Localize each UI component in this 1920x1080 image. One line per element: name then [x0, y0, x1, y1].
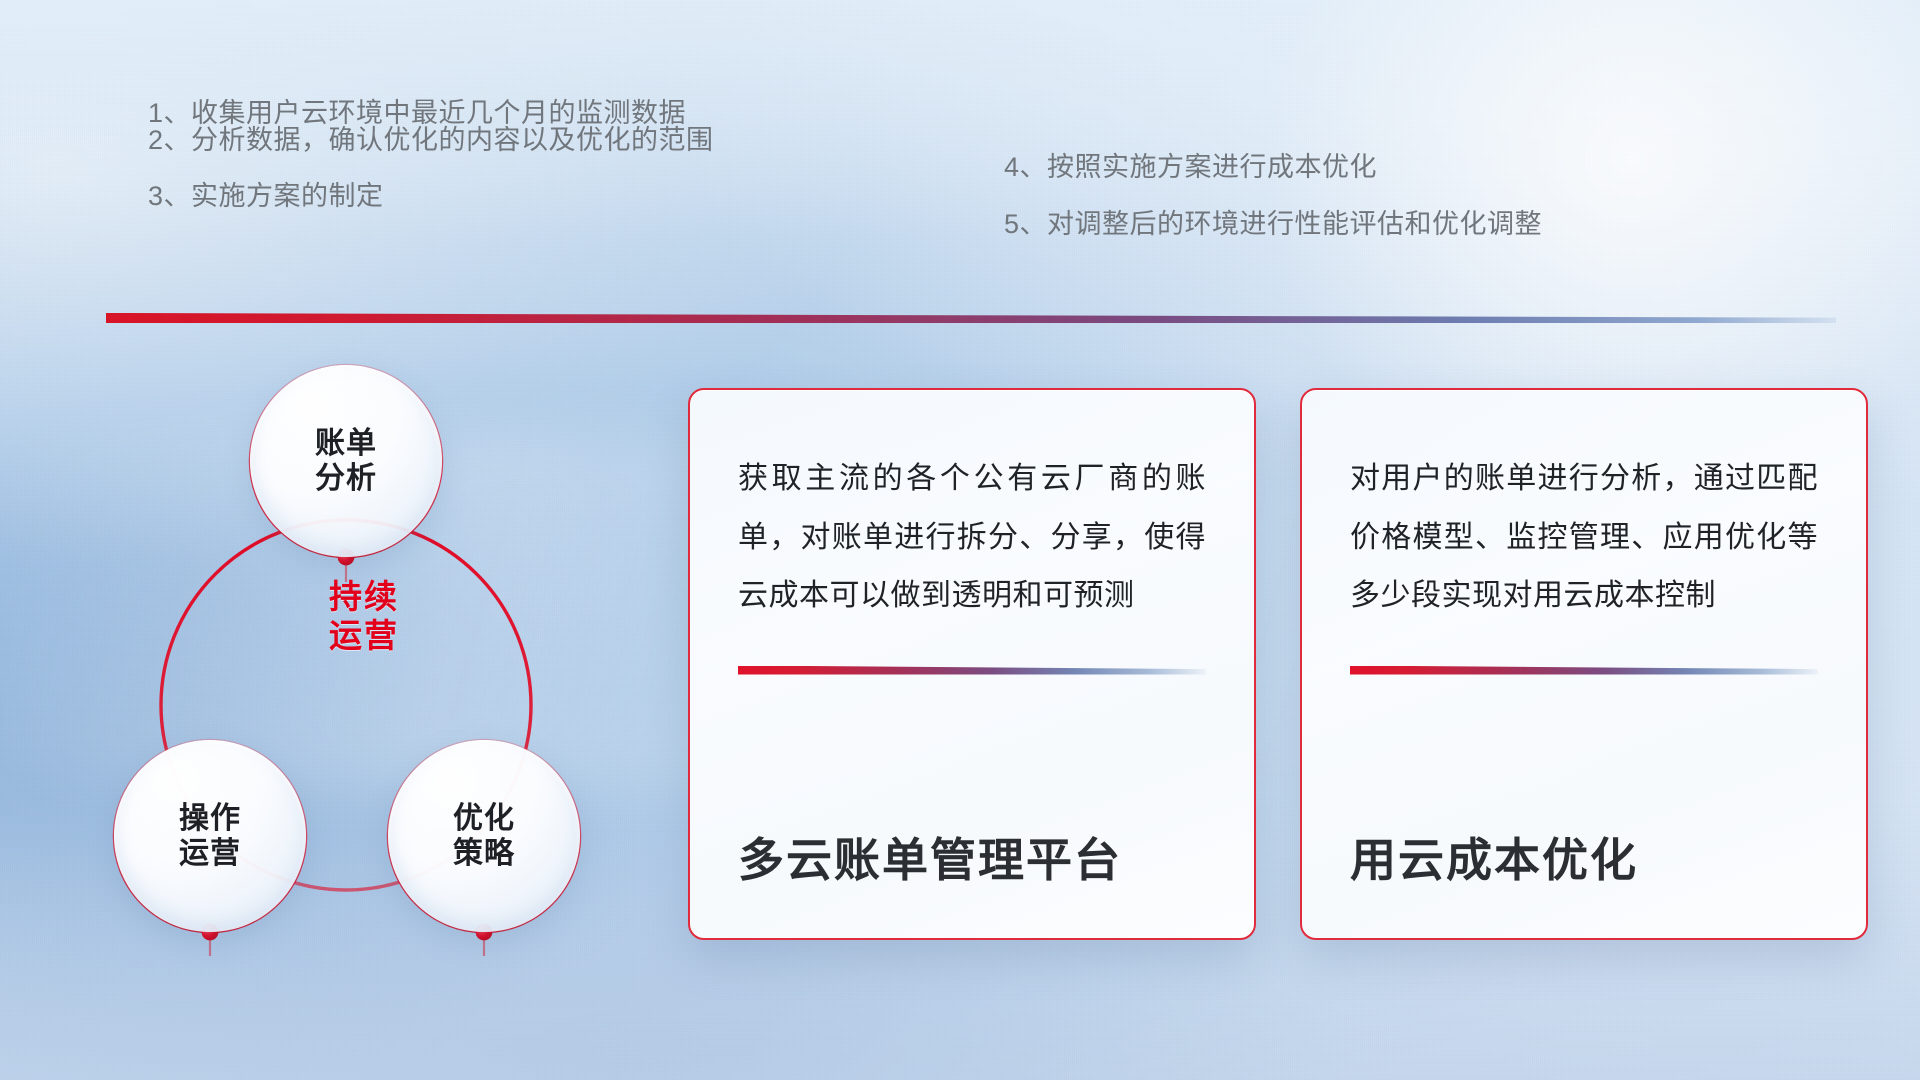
diagram-node-optimization-strategy[interactable]: 优化 策略: [388, 740, 580, 932]
divider-gradient-wedge: [106, 313, 1836, 323]
card-body-text: 对用户的账单进行分析，通过匹配价格模型、监控管理、应用优化等多少段实现对用云成本…: [1302, 390, 1866, 626]
card-divider: [1350, 666, 1818, 675]
steps-list-left: 1、收集用户云环境中最近几个月的监测数据 2、分析数据，确认优化的内容以及优化的…: [148, 100, 714, 239]
step-item-5: 5、对调整后的环境进行性能评估和优化调整: [1004, 211, 1542, 238]
card-divider-gradient: [738, 666, 1206, 675]
node-label: 账单 分析: [315, 426, 377, 497]
diagram-node-operations[interactable]: 操作 运营: [114, 740, 306, 932]
steps-list-right: 4、按照实施方案进行成本优化 5、对调整后的环境进行性能评估和优化调整: [1004, 154, 1542, 268]
card-title: 多云账单管理平台: [690, 835, 1254, 938]
card-divider-gradient: [1350, 666, 1818, 675]
feature-card-multi-cloud-billing[interactable]: 获取主流的各个公有云厂商的账单，对账单进行拆分、分享，使得云成本可以做到透明和可…: [688, 388, 1256, 940]
card-divider: [738, 666, 1206, 675]
step-item-1: 1、收集用户云环境中最近几个月的监测数据: [148, 100, 714, 127]
center-label-text: 持续 运营: [329, 578, 399, 656]
node-label: 操作 运营: [179, 801, 241, 872]
step-item-3: 3、实施方案的制定: [148, 183, 714, 210]
diagram-node-bill-analysis[interactable]: 账单 分析: [250, 365, 442, 557]
card-title: 用云成本优化: [1302, 835, 1866, 938]
step-item-4: 4、按照实施方案进行成本优化: [1004, 154, 1542, 181]
continuous-operation-diagram: 账单 分析 操作 运营 优化 策略 持续 运营: [100, 350, 660, 950]
feature-card-cloud-cost-optimization[interactable]: 对用户的账单进行分析，通过匹配价格模型、监控管理、应用优化等多少段实现对用云成本…: [1300, 388, 1868, 940]
step-item-2: 2、分析数据，确认优化的内容以及优化的范围: [148, 127, 714, 154]
card-body-text: 获取主流的各个公有云厂商的账单，对账单进行拆分、分享，使得云成本可以做到透明和可…: [690, 390, 1254, 626]
section-divider-rule: [106, 313, 1836, 323]
node-label: 优化 策略: [453, 801, 515, 872]
diagram-center-label: 持续 运营: [298, 558, 430, 676]
